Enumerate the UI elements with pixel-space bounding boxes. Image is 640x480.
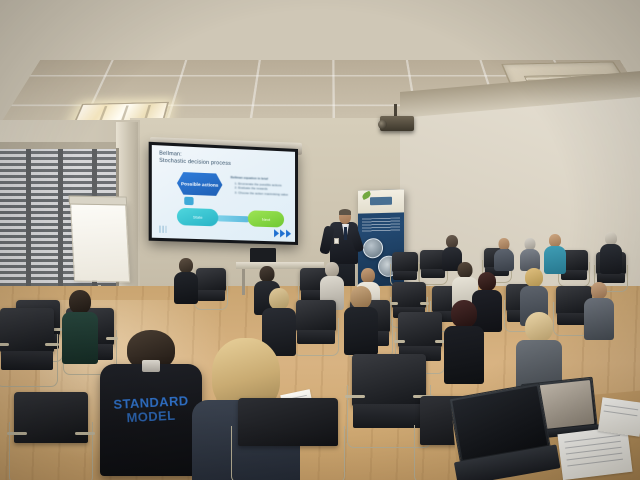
chair[interactable] xyxy=(296,300,336,354)
audience-member xyxy=(444,300,484,380)
audience-member xyxy=(600,232,622,272)
audience-member xyxy=(494,238,514,270)
audience-member xyxy=(544,234,566,272)
chair[interactable] xyxy=(238,398,338,480)
audience-member xyxy=(344,286,378,352)
audience-member xyxy=(62,290,98,360)
chair[interactable] xyxy=(196,268,226,308)
presenter-hair xyxy=(339,209,351,215)
chair[interactable] xyxy=(0,308,54,384)
handout-paper xyxy=(598,397,640,437)
chair[interactable] xyxy=(14,392,88,480)
audience-member xyxy=(174,258,198,302)
laptop-front[interactable] xyxy=(449,379,576,480)
lanyard xyxy=(142,360,160,372)
audience-member xyxy=(584,282,614,338)
presenter-name-badge xyxy=(334,238,339,244)
presenter-tie xyxy=(344,227,347,240)
audience-member xyxy=(520,238,540,270)
tshirt-text-line2: MODEL xyxy=(126,409,176,425)
audience-member-standard-model-shirt: STANDARD MODEL xyxy=(98,330,204,480)
chair[interactable] xyxy=(392,252,418,286)
seminar-room-photo: Bellman: Stochastic decision process Pos… xyxy=(0,0,640,480)
